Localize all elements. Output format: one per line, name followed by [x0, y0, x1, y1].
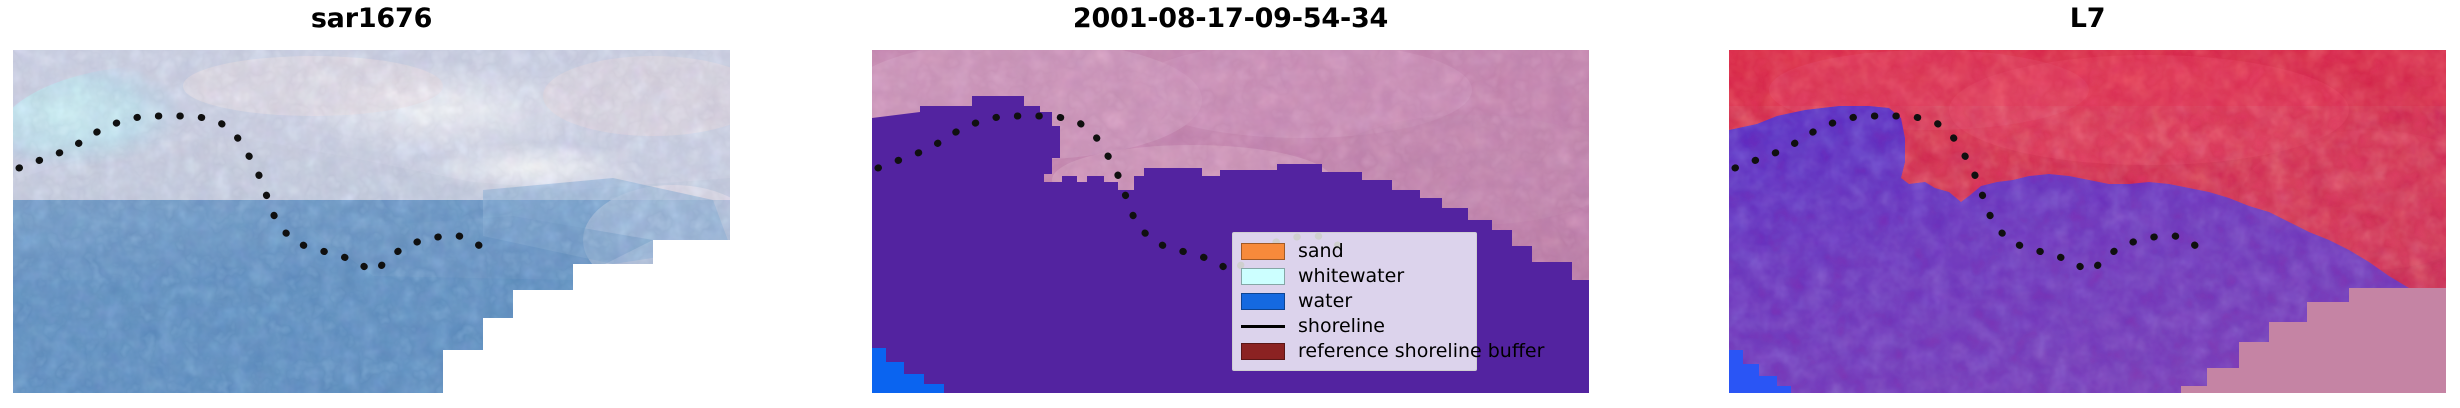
legend-label-shoreline: shoreline [1298, 317, 1385, 336]
axes-l7 [1729, 50, 2446, 393]
legend-label-water: water [1298, 292, 1352, 311]
legend-swatch-reference-buffer [1241, 343, 1285, 360]
panel-title-sar: sar1676 [13, 4, 730, 34]
legend-swatch-sand [1241, 243, 1285, 260]
legend-label-reference-buffer: reference shoreline buffer [1298, 342, 1544, 361]
panel-title-date: 2001-08-17-09-54-34 [872, 4, 1589, 34]
axes-sar-rgb [13, 50, 730, 393]
legend-swatch-water [1241, 293, 1285, 310]
legend-item-shoreline: shoreline [1241, 314, 1468, 339]
legend-swatch-whitewater [1241, 268, 1285, 285]
legend-item-reference-buffer: reference shoreline buffer [1241, 339, 1468, 364]
sar-rgb-image [13, 50, 730, 393]
l7-index-image [1729, 50, 2446, 393]
legend-label-whitewater: whitewater [1298, 267, 1404, 286]
legend-item-sand: sand [1241, 239, 1468, 264]
legend-swatch-shoreline [1241, 318, 1285, 335]
legend-item-whitewater: whitewater [1241, 264, 1468, 289]
legend-label-sand: sand [1298, 242, 1344, 261]
panel-title-l7: L7 [1729, 4, 2446, 34]
panel-l7: L7 [1729, 0, 2446, 408]
panel-classification: 2001-08-17-09-54-34 [872, 0, 1589, 408]
figure-canvas: sar1676 [0, 0, 2460, 408]
panel-sar-rgb: sar1676 [13, 0, 730, 408]
axes-classification: sand whitewater water shoreline referenc… [872, 50, 1589, 393]
legend: sand whitewater water shoreline referenc… [1232, 232, 1477, 371]
legend-item-water: water [1241, 289, 1468, 314]
